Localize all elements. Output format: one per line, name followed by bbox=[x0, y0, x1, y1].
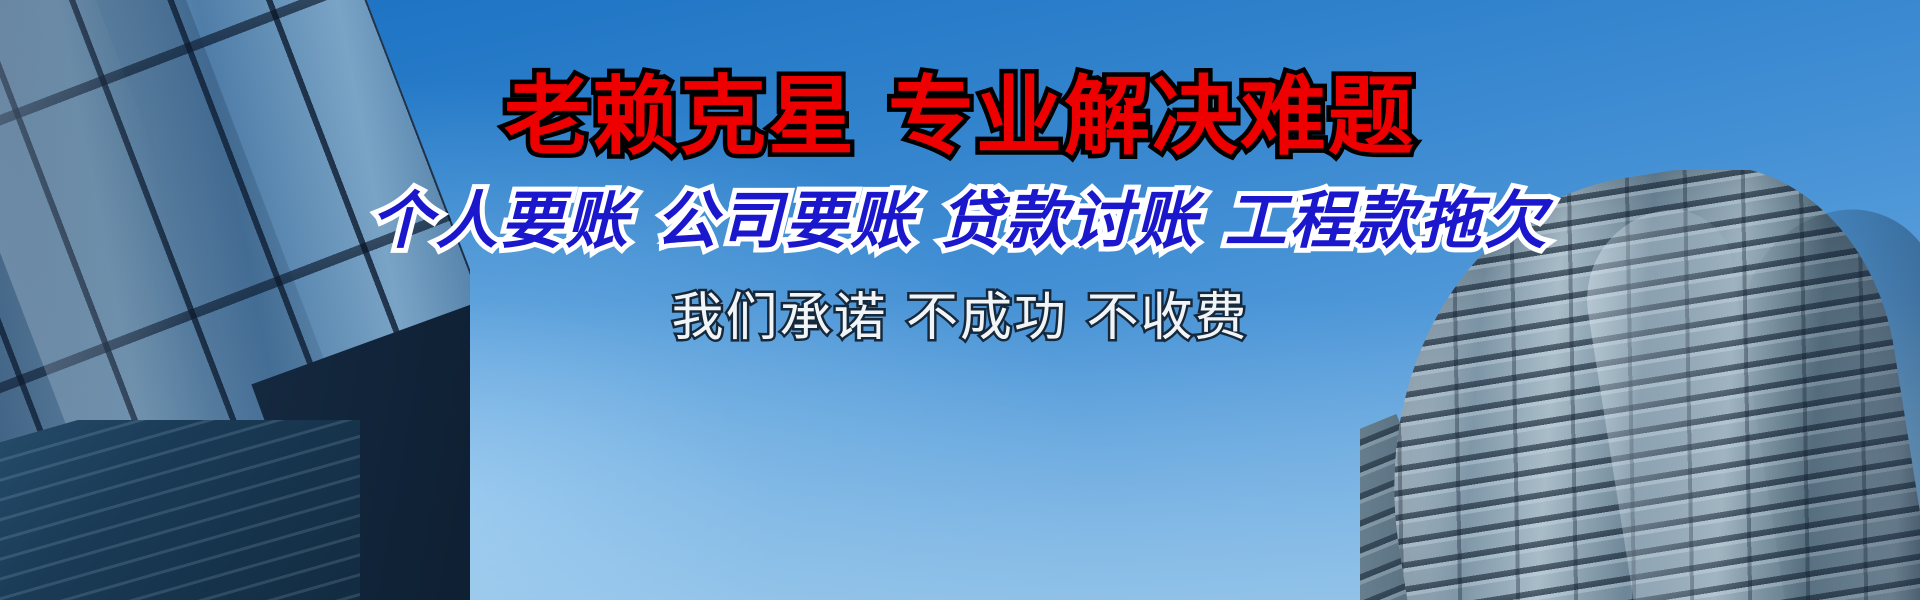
banner-services-line: 个人要账 公司要账 贷款讨账 工程款拖欠 bbox=[371, 188, 1550, 253]
banner-headline: 老赖克星 专业解决难题 bbox=[504, 72, 1416, 162]
banner-text-block: 老赖克星 专业解决难题 个人要账 公司要账 贷款讨账 工程款拖欠 我们承诺 不成… bbox=[0, 0, 1920, 600]
banner-promise-line: 我们承诺 不成功 不收费 bbox=[671, 291, 1248, 346]
debt-collection-banner: 老赖克星 专业解决难题 个人要账 公司要账 贷款讨账 工程款拖欠 我们承诺 不成… bbox=[0, 0, 1920, 600]
